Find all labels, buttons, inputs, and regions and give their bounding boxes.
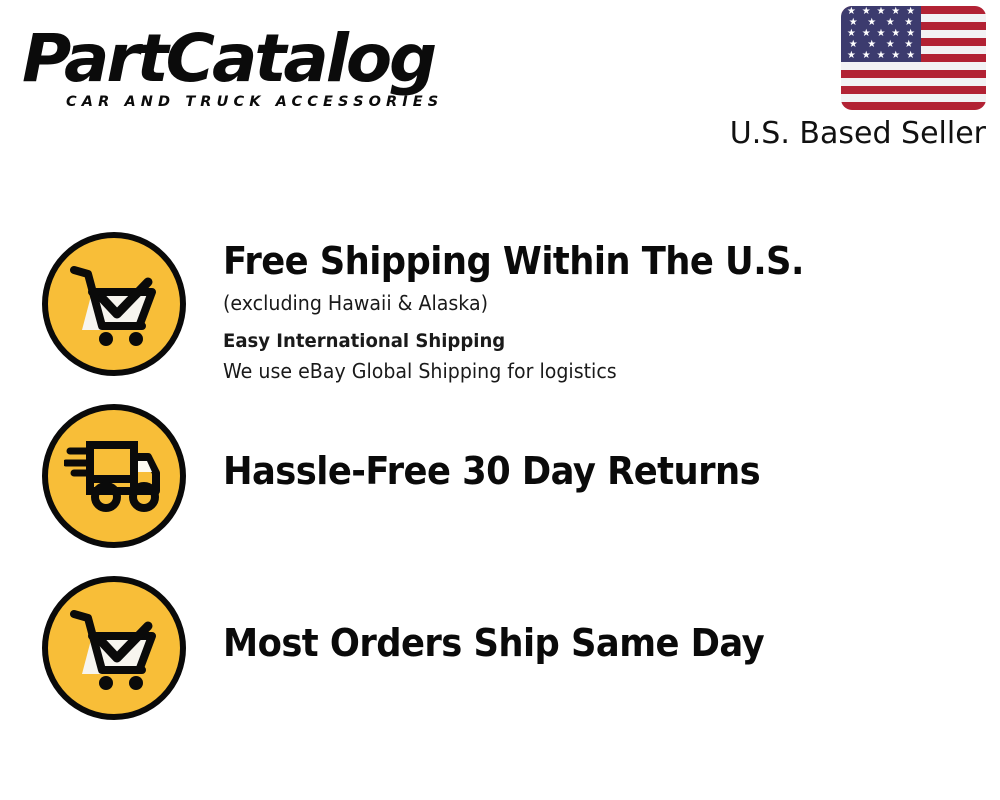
us-based-seller-badge: ★★★★★★★★★★★★★★★★★★★★★★★ U.S. Based Selle…	[686, 6, 986, 151]
brand-wordmark: PartCatalog	[22, 22, 501, 96]
feature-secondary-title: Easy International Shipping	[223, 326, 942, 356]
us-based-seller-label: U.S. Based Seller	[686, 116, 986, 151]
feature-text-block: Hassle-Free 30 Day Returns	[223, 448, 980, 494]
star-icon: ★	[849, 40, 858, 50]
flag-star-row: ★★★★★	[841, 6, 921, 17]
star-icon: ★	[847, 51, 856, 61]
feature-title: Most Orders Ship Same Day	[223, 620, 927, 666]
flag-star-row: ★★★★★	[841, 51, 921, 62]
star-icon: ★	[862, 29, 871, 39]
feature-text-block: Free Shipping Within The U.S. (excluding…	[223, 232, 980, 386]
star-icon: ★	[867, 18, 876, 28]
feature-row: Most Orders Ship Same Day	[0, 576, 1000, 748]
star-icon: ★	[904, 18, 913, 28]
flag-star-row: ★★★★	[841, 17, 921, 28]
brand-logo[interactable]: PartCatalog CAR AND TRUCK ACCESSORIES	[22, 22, 492, 122]
star-icon: ★	[891, 29, 900, 39]
star-icon: ★	[891, 7, 900, 17]
feature-list: Free Shipping Within The U.S. (excluding…	[0, 232, 1000, 748]
star-icon: ★	[862, 51, 871, 61]
feature-subtitle: (excluding Hawaii & Alaska)	[223, 288, 942, 318]
flag-star-row: ★★★★	[841, 40, 921, 51]
star-icon: ★	[886, 40, 895, 50]
feature-title: Hassle-Free 30 Day Returns	[223, 448, 927, 494]
star-icon: ★	[877, 29, 886, 39]
feature-secondary-subtitle: We use eBay Global Shipping for logistic…	[223, 356, 942, 386]
feature-text-block: Most Orders Ship Same Day	[223, 620, 980, 666]
star-icon: ★	[886, 18, 895, 28]
star-icon: ★	[877, 51, 886, 61]
delivery-truck-icon	[42, 404, 186, 548]
flag-canton: ★★★★★★★★★★★★★★★★★★★★★★★	[841, 6, 921, 62]
star-icon: ★	[906, 51, 915, 61]
star-icon: ★	[904, 40, 913, 50]
feature-title: Free Shipping Within The U.S.	[223, 238, 927, 284]
star-icon: ★	[891, 51, 900, 61]
shopping-cart-check-icon	[42, 232, 186, 376]
us-flag-icon: ★★★★★★★★★★★★★★★★★★★★★★★	[841, 6, 986, 110]
star-icon: ★	[862, 7, 871, 17]
shopping-cart-check-icon	[42, 576, 186, 720]
flag-star-row: ★★★★★	[841, 28, 921, 39]
feature-row: Hassle-Free 30 Day Returns	[0, 404, 1000, 576]
star-icon: ★	[847, 29, 856, 39]
star-icon: ★	[877, 7, 886, 17]
star-icon: ★	[906, 7, 915, 17]
feature-row: Free Shipping Within The U.S. (excluding…	[0, 232, 1000, 404]
star-icon: ★	[867, 40, 876, 50]
star-icon: ★	[847, 7, 856, 17]
star-icon: ★	[906, 29, 915, 39]
star-icon: ★	[849, 18, 858, 28]
promo-banner: PartCatalog CAR AND TRUCK ACCESSORIES ★★…	[0, 0, 1000, 800]
